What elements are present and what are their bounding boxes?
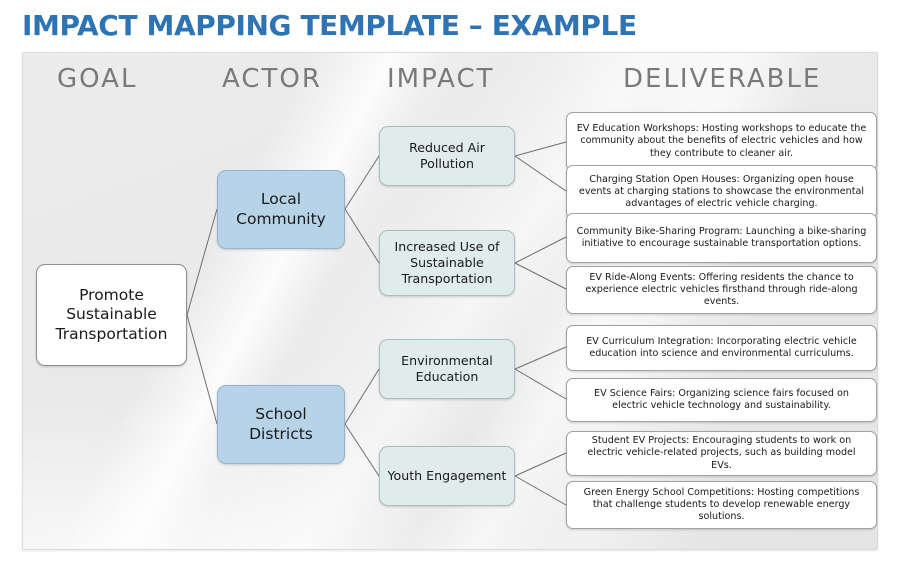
deliverable-node-charging-station-open-houses[interactable]: Charging Station Open Houses: Organizing… [566, 165, 877, 219]
actor-node-school-districts[interactable]: School Districts [217, 385, 345, 464]
column-header-goal: GOAL [57, 64, 137, 94]
deliverable-node-green-energy-school-competitions[interactable]: Green Energy School Competitions: Hostin… [566, 481, 877, 529]
deliverable-node-ev-curriculum-integration[interactable]: EV Curriculum Integration: Incorporating… [566, 325, 877, 371]
impact-node-environmental-education[interactable]: Environmental Education [379, 339, 515, 399]
page-title: IMPACT MAPPING TEMPLATE – EXAMPLE [22, 9, 637, 42]
goal-node[interactable]: Promote Sustainable Transportation [36, 264, 187, 366]
actor-node-local-community[interactable]: Local Community [217, 170, 345, 249]
deliverable-node-community-bike-sharing[interactable]: Community Bike-Sharing Program: Launchin… [566, 213, 877, 263]
deliverable-node-ev-ride-along-events[interactable]: EV Ride-Along Events: Offering residents… [566, 266, 877, 314]
deliverable-node-ev-education-workshops[interactable]: EV Education Workshops: Hosting workshop… [566, 112, 877, 171]
column-header-deliverable: DELIVERABLE [623, 64, 821, 94]
impact-node-increased-sustainable-transportation[interactable]: Increased Use of Sustainable Transportat… [379, 230, 515, 296]
deliverable-node-student-ev-projects[interactable]: Student EV Projects: Encouraging student… [566, 431, 877, 476]
impact-node-reduced-air-pollution[interactable]: Reduced Air Pollution [379, 126, 515, 186]
deliverable-node-ev-science-fairs[interactable]: EV Science Fairs: Organizing science fai… [566, 378, 877, 422]
column-header-actor: ACTOR [222, 64, 322, 94]
column-header-impact: IMPACT [387, 64, 494, 94]
impact-node-youth-engagement[interactable]: Youth Engagement [379, 446, 515, 506]
impact-map-page: IMPACT MAPPING TEMPLATE – EXAMPLE GOAL A… [0, 0, 900, 563]
